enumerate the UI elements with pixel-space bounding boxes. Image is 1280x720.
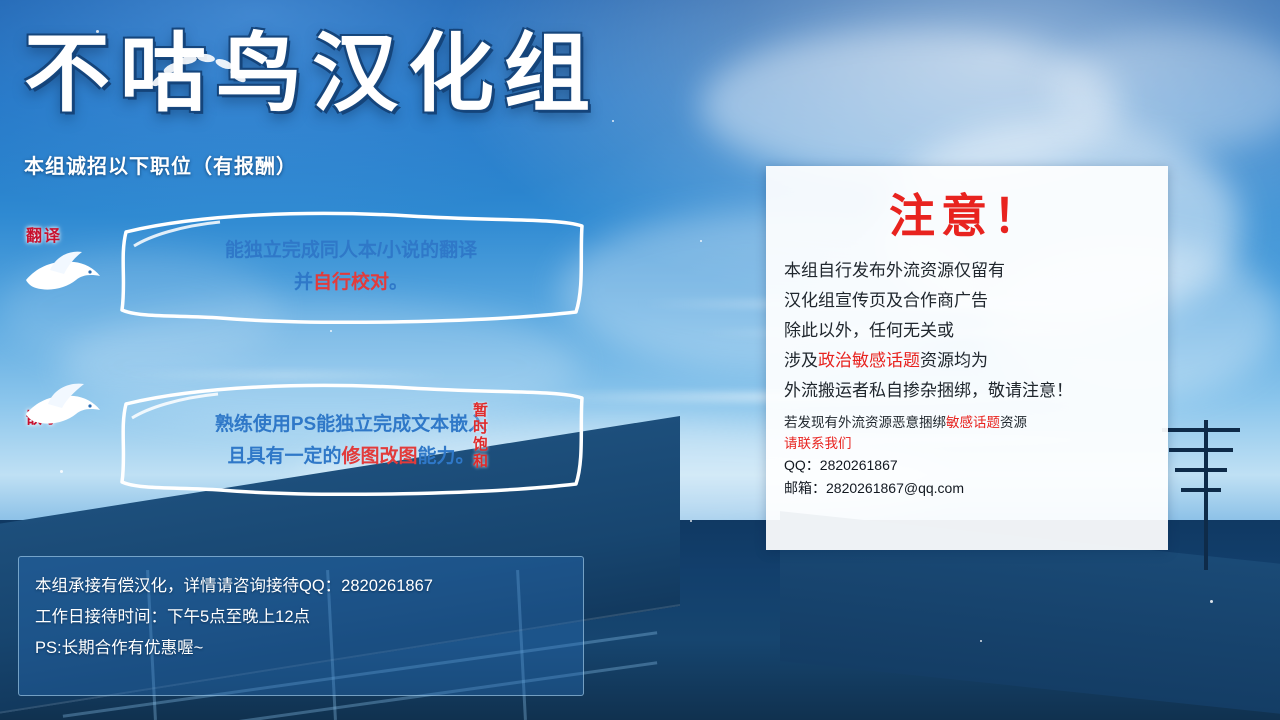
poster-canvas: 不咕鸟汉化组 本组诚招以下职位（有报酬） 翻译 能独立完成同人本/小说的翻译 并…	[0, 0, 1280, 720]
notice-line: 汉化组宣传页及合作商广告	[784, 286, 1150, 316]
notice-title: 注意！	[784, 180, 1150, 246]
notice-line: 本组自行发布外流资源仅留有	[784, 256, 1150, 286]
snow-dot	[330, 330, 332, 332]
sensitive-topic-highlight-small: 敏感话题	[946, 415, 1000, 430]
footer-panel: 本组承接有偿汉化，详情请咨询接待QQ：2820261867 工作日接待时间：下午…	[18, 556, 584, 696]
notice-small-line: 若发现有外流资源恶意捆绑敏感话题资源	[784, 412, 1150, 433]
antenna-bar	[1175, 468, 1227, 472]
saturated-stamp: 暂时饱和	[470, 402, 489, 470]
light-streak	[120, 372, 450, 378]
snow-dot	[700, 240, 702, 242]
antenna-bar	[1162, 428, 1240, 432]
role-line-2: 并自行校对。	[294, 267, 408, 299]
snow-dot	[980, 640, 982, 642]
group-logo-text: 不咕鸟汉化组	[24, 18, 764, 130]
role-bubble-translator: 能独立完成同人本/小说的翻译 并自行校对。	[110, 206, 592, 328]
footer-line-2: 工作日接待时间：下午5点至晚上12点	[35, 602, 567, 633]
dove-icon	[20, 240, 106, 304]
recruit-subtitle: 本组诚招以下职位（有报酬）	[24, 150, 297, 179]
antenna-bar	[1169, 448, 1233, 452]
notice-qq: QQ：2820261867	[784, 454, 1150, 477]
sensitive-topic-highlight: 政治敏感话题	[818, 351, 920, 370]
notice-panel: 注意！ 本组自行发布外流资源仅留有 汉化组宣传页及合作商广告 除此以外，任何无关…	[766, 166, 1168, 550]
notice-line: 外流搬运者私自掺杂捆绑，敬请注意！	[784, 376, 1150, 406]
role-line-1: 能独立完成同人本/小说的翻译	[225, 235, 477, 267]
footer-line-3: PS:长期合作有优惠喔~	[35, 633, 567, 664]
role-bubble-text: 能独立完成同人本/小说的翻译 并自行校对。	[110, 206, 592, 328]
snow-dot	[1210, 600, 1213, 603]
snow-dot	[690, 520, 692, 522]
dove-icon	[20, 372, 106, 436]
antenna-mast	[1204, 420, 1208, 570]
role-line-2: 且具有一定的修图改图能力。	[227, 441, 474, 473]
role-bubble-typesetter: 熟练使用PS能独立完成文本嵌入 且具有一定的修图改图能力。	[110, 380, 592, 502]
role-line-1: 熟练使用PS能独立完成文本嵌入	[215, 409, 487, 441]
role-bubble-text: 熟练使用PS能独立完成文本嵌入 且具有一定的修图改图能力。	[110, 380, 592, 502]
role-highlight: 自行校对	[313, 272, 389, 293]
role-highlight: 修图改图	[341, 446, 417, 467]
antenna-bar	[1181, 488, 1221, 492]
snow-dot	[60, 470, 63, 473]
notice-line: 除此以外，任何无关或	[784, 316, 1150, 346]
notice-email: 邮箱：2820261867@qq.com	[784, 477, 1150, 500]
contact-us-line: 请联系我们	[784, 433, 1150, 454]
group-logo: 不咕鸟汉化组	[24, 18, 764, 138]
footer-line-1: 本组承接有偿汉化，详情请咨询接待QQ：2820261867	[35, 571, 567, 602]
notice-line-sensitive: 涉及政治敏感话题资源均为	[784, 346, 1150, 376]
